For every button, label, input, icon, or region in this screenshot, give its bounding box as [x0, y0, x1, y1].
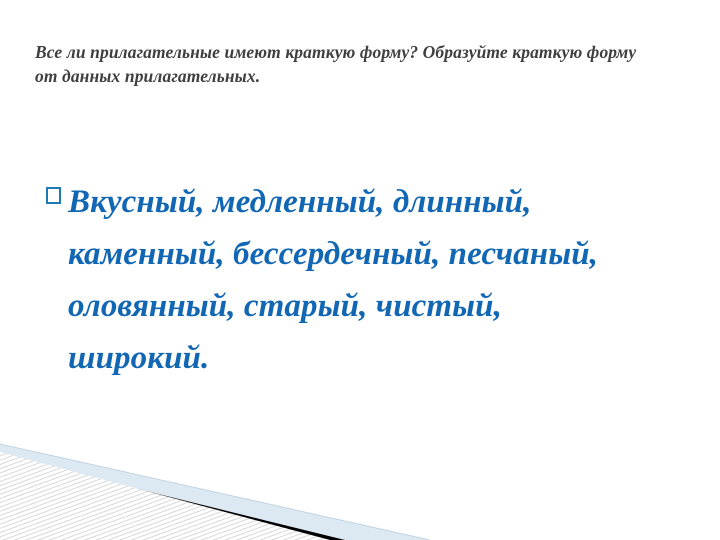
hollow-square-bullet-icon [46, 187, 61, 204]
title-placeholder: Все ли прилагательные имеют краткую форм… [35, 41, 655, 88]
decoration-hatch-area [0, 430, 720, 540]
corner-ribbon-decoration [0, 430, 720, 540]
list-item: Вкусный, медленный, длинный, каменный, б… [46, 176, 606, 384]
page-title: Все ли прилагательные имеют краткую форм… [35, 41, 655, 88]
slide-canvas: Все ли прилагательные имеют краткую форм… [0, 0, 720, 540]
decoration-blue-band [0, 444, 430, 540]
list-item-label: Вкусный, медленный, длинный, каменный, б… [68, 176, 606, 384]
content-placeholder: Вкусный, медленный, длинный, каменный, б… [46, 176, 606, 384]
decoration-black-wedge [0, 455, 345, 540]
decoration-top-edge-line [0, 444, 430, 540]
